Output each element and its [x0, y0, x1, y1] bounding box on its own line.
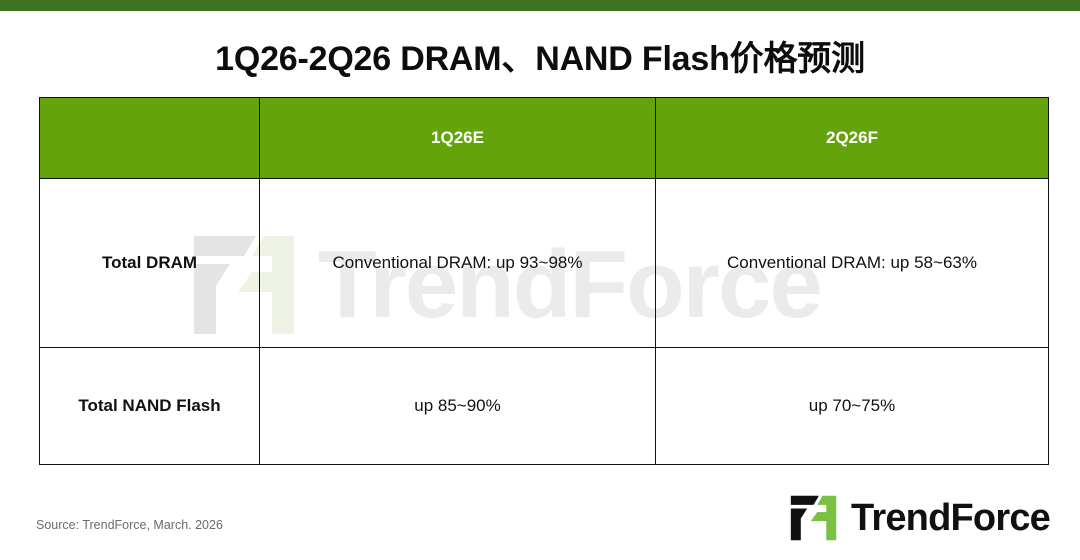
brand-logo-text: TrendForce: [851, 499, 1050, 537]
table-header-1q26e: 1Q26E: [260, 98, 656, 179]
table-header-2q26f: 2Q26F: [656, 98, 1049, 179]
table-row: Total DRAM Conventional DRAM: up 93~98% …: [40, 179, 1049, 348]
row-label-total-nand-flash: Total NAND Flash: [40, 348, 260, 465]
source-note: Source: TrendForce, March. 2026: [36, 518, 223, 532]
table-row: Total NAND Flash up 85~90% up 70~75%: [40, 348, 1049, 465]
cell-total-dram-1q26e: Conventional DRAM: up 93~98%: [260, 179, 656, 348]
top-accent-bar: [0, 0, 1080, 11]
table-header-row: 1Q26E 2Q26F: [40, 98, 1049, 179]
cell-total-dram-2q26f: Conventional DRAM: up 58~63%: [656, 179, 1049, 348]
slide-canvas: 1Q26-2Q26 DRAM、NAND Flash价格预测 TrendForce…: [0, 0, 1080, 560]
cell-total-nand-flash-2q26f: up 70~75%: [656, 348, 1049, 465]
table-header-corner: [40, 98, 260, 179]
cell-total-nand-flash-1q26e: up 85~90%: [260, 348, 656, 465]
page-title: 1Q26-2Q26 DRAM、NAND Flash价格预测: [0, 31, 1080, 80]
trendforce-logo-mark-icon: [787, 493, 841, 543]
price-forecast-table: 1Q26E 2Q26F Total DRAM Conventional DRAM…: [39, 97, 1049, 465]
brand-logo: TrendForce: [787, 492, 1050, 544]
row-label-total-dram: Total DRAM: [40, 179, 260, 348]
